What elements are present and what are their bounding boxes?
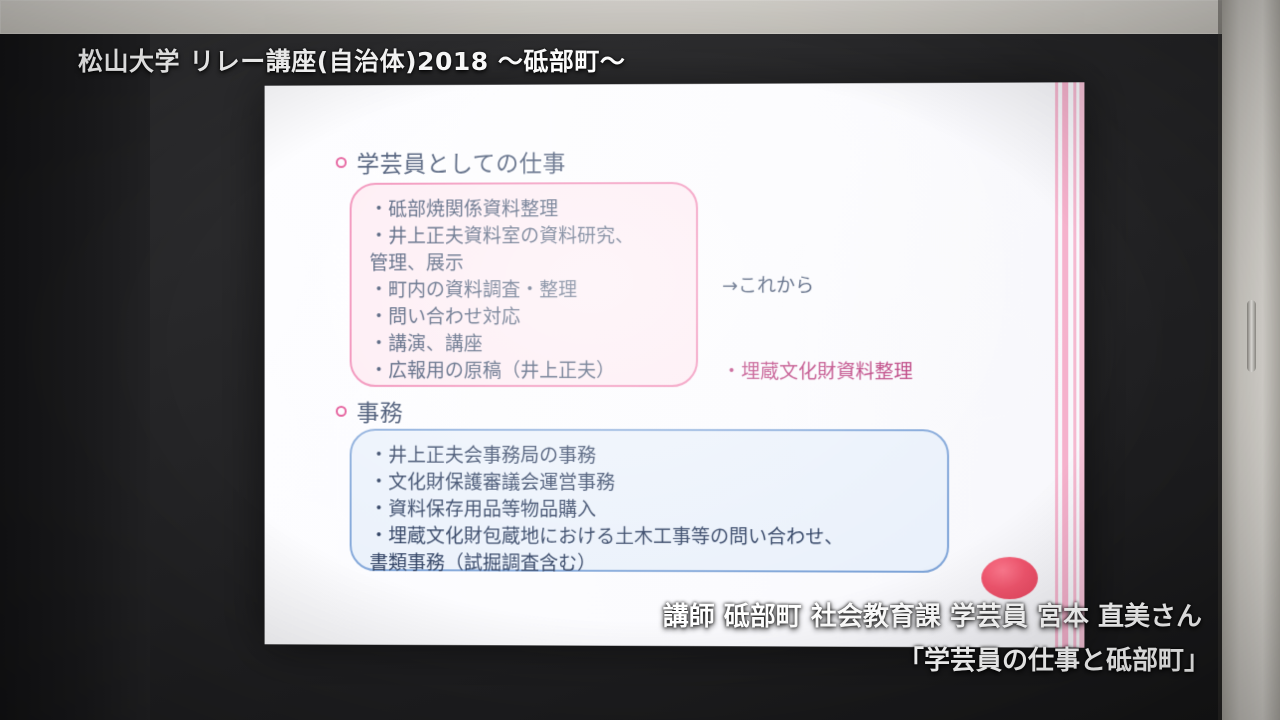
door-handle [1247, 300, 1256, 372]
duties-box-text: ・砥部焼関係資料整理 ・井上正夫資料室の資料研究、 管理、展示 ・町内の資料調査… [369, 196, 686, 385]
admin-box-text: ・井上正夫会事務局の事務 ・文化財保護審議会運営事務 ・資料保存用品等物品購入 … [369, 443, 937, 579]
slide-content: 学芸員としての仕事 ・砥部焼関係資料整理 ・井上正夫資料室の資料研究、 管理、展… [265, 82, 1085, 647]
slide-surface: 学芸員としての仕事 ・砥部焼関係資料整理 ・井上正夫資料室の資料研究、 管理、展… [265, 82, 1085, 647]
video-frame: 学芸員としての仕事 ・砥部焼関係資料整理 ・井上正夫資料室の資料研究、 管理、展… [0, 0, 1280, 720]
ceiling-strip [0, 0, 1280, 34]
projection-screen: 学芸員としての仕事 ・砥部焼関係資料整理 ・井上正夫資料室の資料研究、 管理、展… [265, 82, 1085, 647]
ring-bullet-icon [336, 157, 347, 168]
slide-heading-2-text: 事務 [357, 394, 404, 428]
door-edge [1218, 0, 1222, 720]
admin-box: ・井上正夫会事務局の事務 ・文化財保護審議会運営事務 ・資料保存用品等物品購入 … [350, 429, 949, 573]
red-dot-marker [981, 557, 1038, 599]
ring-bullet-icon-2 [336, 405, 347, 416]
program-title-overlay: 松山大学 リレー講座(自治体)2018 〜砥部町〜 [78, 42, 625, 78]
slide-heading-2: 事務 [336, 394, 403, 428]
future-plans-arrow-label: →これから [722, 271, 1024, 300]
duties-box: ・砥部焼関係資料整理 ・井上正夫資料室の資料研究、 管理、展示 ・町内の資料調査… [350, 182, 698, 387]
dark-left-wall [0, 0, 150, 720]
slide-heading-1-text: 学芸員としての仕事 [357, 144, 566, 179]
future-plans-item-0: ・埋蔵文化財資料整理 [722, 358, 1024, 387]
slide-heading-1: 学芸員としての仕事 [336, 144, 566, 179]
speaker-caption: 講師 砥部町 社会教育課 学芸員 宮本 直美さん [663, 596, 1202, 633]
talk-title-caption: 「学芸員の仕事と砥部町」 [898, 640, 1210, 677]
